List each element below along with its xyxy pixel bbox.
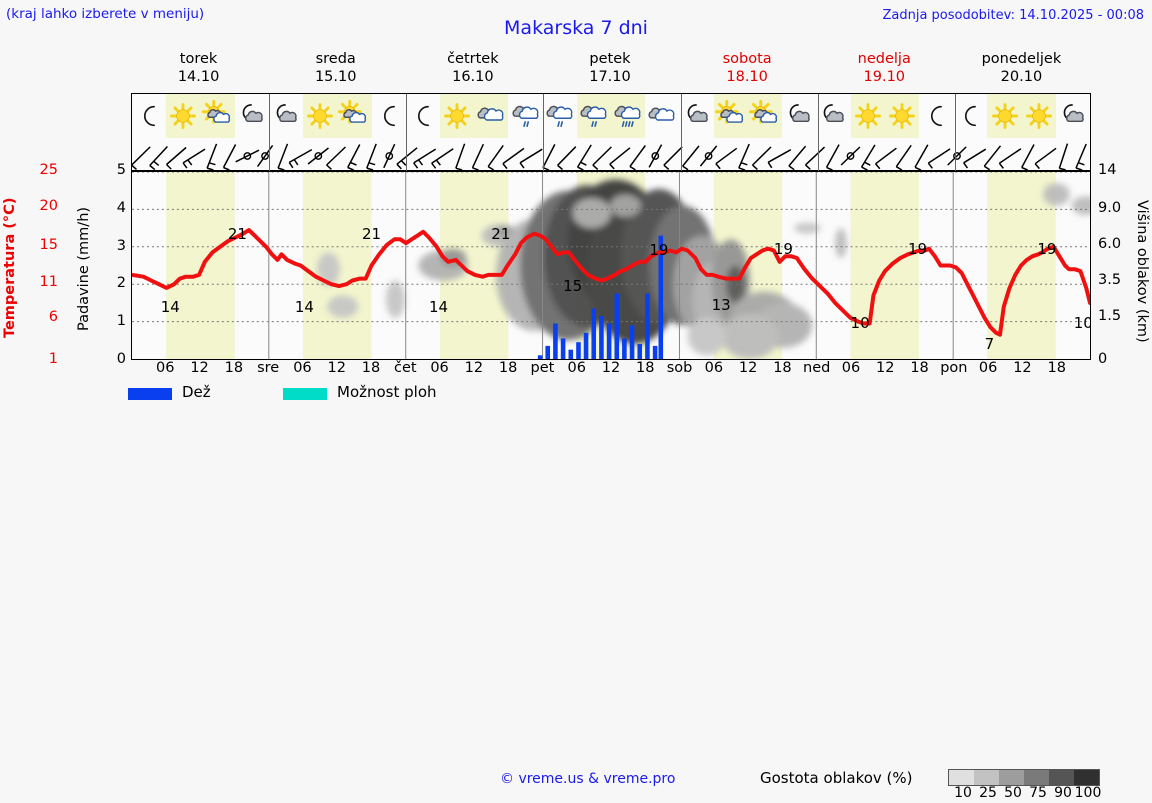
weather-icon-cell-25 (987, 94, 1021, 138)
weather-icon-cell-14 (611, 94, 645, 138)
x-tick-21: 12 (868, 360, 902, 376)
moon-cloud-icon (680, 99, 714, 133)
cloud-height-tick-1: 9.0 (1098, 200, 1132, 216)
day-separator-6 (955, 94, 956, 172)
x-tick-1: 12 (183, 360, 217, 376)
showers-legend-swatch (283, 388, 327, 400)
copyright-link[interactable]: © vreme.us & vreme.pro (500, 771, 675, 787)
weather-icon-cell-8 (406, 94, 440, 138)
x-tick-15: sob (663, 360, 697, 376)
precipitation-tick-5: 5 (98, 162, 126, 178)
cloud-ramp-step-1 (974, 770, 999, 785)
temperature-extreme-label: 10 (848, 314, 872, 332)
moon-icon (953, 99, 987, 133)
temperature-tick-1: 1 (28, 351, 58, 367)
weather-icon-cell-24 (953, 94, 987, 138)
x-tick-2: 18 (217, 360, 251, 376)
weather-icon-cell-2 (200, 94, 234, 138)
day-header-row: torek14.10sreda15.10četrtek16.10petek17.… (130, 50, 1090, 90)
temperature-extreme-label: 7 (977, 335, 1001, 353)
weather-icon-cell-22 (885, 94, 919, 138)
rain-legend-label: Dež (182, 383, 211, 401)
showers-legend-label: Možnost ploh (337, 383, 437, 401)
cloud-ramp-step-4 (1049, 770, 1074, 785)
precipitation-tick-3: 3 (98, 238, 126, 254)
cloud-density-ramp (948, 769, 1100, 786)
temperature-extreme-label: 21 (360, 225, 384, 243)
x-tick-25: 12 (1005, 360, 1039, 376)
cloud-height-tick-2: 6.0 (1098, 236, 1132, 252)
sun-icon (988, 99, 1022, 133)
legend: Dež Možnost ploh © vreme.us & vreme.pro … (0, 383, 1152, 423)
sun-cloud-icon (748, 99, 782, 133)
x-tick-11: pet (525, 360, 559, 376)
cloud-icon (474, 99, 508, 133)
x-tick-8: 06 (423, 360, 457, 376)
x-tick-19: ned (800, 360, 834, 376)
cloud-height-tick-0: 14 (1098, 162, 1132, 178)
moon-cloud-icon (816, 99, 850, 133)
cloud-rain-icon (577, 99, 611, 133)
day-name: torek (130, 50, 267, 68)
weather-icon-cell-6 (337, 94, 371, 138)
weather-icon-cell-13 (577, 94, 611, 138)
weather-icon-cell-27 (1056, 94, 1090, 138)
weather-icon-cell-26 (1022, 94, 1056, 138)
weather-icon-cell-16 (680, 94, 714, 138)
day-header-4: sobota18.10 (679, 50, 816, 90)
weather-icon-cell-9 (440, 94, 474, 138)
weather-icon-cell-20 (816, 94, 850, 138)
weather-icon-row (132, 94, 1090, 138)
x-tick-12: 06 (560, 360, 594, 376)
weather-icon-panel (131, 93, 1091, 171)
x-tick-20: 06 (834, 360, 868, 376)
moon-cloud-icon (1056, 99, 1090, 133)
weather-icon-cell-1 (166, 94, 200, 138)
precipitation-axis-title: Padavine (mm/h) (76, 171, 98, 366)
weather-icon-cell-12 (543, 94, 577, 138)
sun-icon (166, 99, 200, 133)
temperature-tick-20: 20 (28, 198, 58, 214)
temperature-tick-15: 15 (28, 237, 58, 253)
sun-icon (885, 99, 919, 133)
sun-cloud-icon (714, 99, 748, 133)
day-name: sobota (679, 50, 816, 68)
day-name: ponedeljek (953, 50, 1090, 68)
sun-icon (1022, 99, 1056, 133)
weather-icon-cell-18 (748, 94, 782, 138)
cloud-rain-icon (509, 99, 543, 133)
x-tick-0: 06 (148, 360, 182, 376)
moon-icon (132, 99, 166, 133)
day-date: 14.10 (130, 68, 267, 86)
day-separator-3 (543, 94, 544, 172)
day-date: 19.10 (816, 68, 953, 86)
temperature-extreme-label: 14 (427, 298, 451, 316)
cloud-density-legend-label: Gostota oblakov (%) (760, 769, 913, 787)
rain-legend-swatch (128, 388, 172, 400)
day-separator-4 (681, 94, 682, 172)
sun-icon (440, 99, 474, 133)
moon-cloud-icon (269, 99, 303, 133)
sun-icon (303, 99, 337, 133)
precipitation-tick-1: 1 (98, 313, 126, 329)
day-date: 20.10 (953, 68, 1090, 86)
temperature-extreme-label: 13 (709, 296, 733, 314)
x-tick-17: 12 (731, 360, 765, 376)
meteogram-plot: 14211421142115191319101971910 (131, 171, 1091, 360)
day-name: četrtek (404, 50, 541, 68)
cloud-ramp-step-3 (1024, 770, 1049, 785)
temperature-extreme-label: 14 (292, 298, 316, 316)
day-date: 18.10 (679, 68, 816, 86)
precipitation-tick-2: 2 (98, 275, 126, 291)
temperature-axis-title: Temperatura (°C) (2, 175, 28, 360)
x-tick-4: 06 (285, 360, 319, 376)
weather-icon-cell-21 (851, 94, 885, 138)
temperature-tick-11: 11 (28, 274, 58, 290)
x-tick-24: 06 (971, 360, 1005, 376)
day-separator-5 (818, 94, 819, 172)
cloud-height-tick-5: 0 (1098, 351, 1132, 367)
temperature-tick-25: 25 (28, 162, 58, 178)
weather-icon-cell-11 (508, 94, 542, 138)
weather-icon-cell-0 (132, 94, 166, 138)
weather-icon-cell-4 (269, 94, 303, 138)
sun-cloud-icon (337, 99, 371, 133)
last-update-stamp: Zadnja posodobitev: 14.10.2025 - 00:08 (882, 8, 1144, 23)
temperature-extreme-label: 21 (489, 225, 513, 243)
precipitation-tick-0: 0 (98, 351, 126, 367)
x-tick-10: 18 (491, 360, 525, 376)
cloud-density-tick-labels: 1025507590100 (940, 785, 1110, 803)
day-date: 16.10 (404, 68, 541, 86)
cloud-tick-100: 100 (1073, 785, 1103, 801)
day-header-6: ponedeljek20.10 (953, 50, 1090, 90)
day-name: nedelja (816, 50, 953, 68)
x-tick-13: 12 (594, 360, 628, 376)
precipitation-tick-4: 4 (98, 200, 126, 216)
x-tick-7: čet (388, 360, 422, 376)
x-tick-23: pon (937, 360, 971, 376)
cloud-ramp-step-2 (999, 770, 1024, 785)
temperature-tick-6: 6 (28, 309, 58, 325)
weather-icon-cell-3 (235, 94, 269, 138)
weather-icon-cell-7 (372, 94, 406, 138)
moon-icon (919, 99, 953, 133)
x-tick-9: 12 (457, 360, 491, 376)
temperature-extreme-label: 14 (158, 298, 182, 316)
day-date: 15.10 (267, 68, 404, 86)
temperature-extreme-label: 19 (906, 240, 930, 258)
day-header-3: petek17.10 (541, 50, 678, 90)
weather-icon-cell-10 (474, 94, 508, 138)
day-separator-1 (269, 94, 270, 172)
x-tick-5: 12 (320, 360, 354, 376)
weather-icon-cell-15 (645, 94, 679, 138)
cloud-height-tick-3: 3.5 (1098, 272, 1132, 288)
cloud-rain-icon (543, 99, 577, 133)
x-tick-22: 18 (903, 360, 937, 376)
plot-canvas (132, 172, 1090, 359)
x-tick-14: 18 (628, 360, 662, 376)
day-name: sreda (267, 50, 404, 68)
day-name: petek (541, 50, 678, 68)
day-header-1: sreda15.10 (267, 50, 404, 90)
moon-icon (406, 99, 440, 133)
day-header-2: četrtek16.10 (404, 50, 541, 90)
x-tick-3: sre (251, 360, 285, 376)
temperature-extreme-label: 19 (647, 241, 671, 259)
day-header-5: nedelja19.10 (816, 50, 953, 90)
moon-cloud-icon (235, 99, 269, 133)
cloud-ramp-step-0 (949, 770, 974, 785)
weather-icon-cell-17 (714, 94, 748, 138)
sun-icon (851, 99, 885, 133)
cloud-height-tick-4: 1.5 (1098, 308, 1132, 324)
moon-cloud-icon (782, 99, 816, 133)
cloud-rain-heavy-icon (611, 99, 645, 133)
temperature-extreme-label: 19 (771, 240, 795, 258)
x-tick-18: 18 (765, 360, 799, 376)
temperature-extreme-label: 19 (1035, 240, 1059, 258)
cloud-icon (645, 99, 679, 133)
day-date: 17.10 (541, 68, 678, 86)
wind-barb-row (132, 138, 1090, 171)
day-header-0: torek14.10 (130, 50, 267, 90)
weather-icon-cell-23 (919, 94, 953, 138)
temperature-extreme-label: 15 (561, 277, 585, 295)
x-tick-26: 18 (1040, 360, 1074, 376)
cloud-ramp-step-5 (1074, 770, 1099, 785)
temperature-extreme-label: 10 (1071, 314, 1091, 332)
x-tick-6: 18 (354, 360, 388, 376)
temperature-extreme-label: 21 (225, 225, 249, 243)
weather-icon-cell-19 (782, 94, 816, 138)
day-separator-2 (406, 94, 407, 172)
moon-icon (372, 99, 406, 133)
weather-icon-cell-5 (303, 94, 337, 138)
sun-cloud-icon (201, 99, 235, 133)
x-tick-16: 06 (697, 360, 731, 376)
